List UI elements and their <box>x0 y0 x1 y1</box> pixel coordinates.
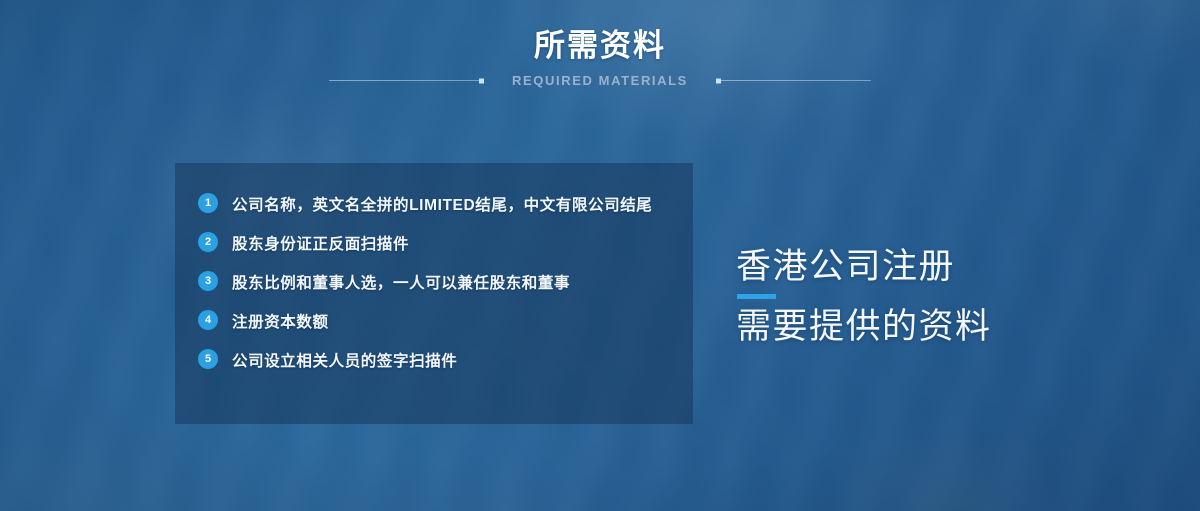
list-item-text: 公司设立相关人员的签字扫描件 <box>232 346 457 377</box>
list-item: 4 注册资本数额 <box>198 307 679 338</box>
page-subtitle: REQUIRED MATERIALS <box>512 74 688 87</box>
list-item: 1 公司名称，英文名全拼的LIMITED结尾，中文有限公司结尾 <box>198 190 679 221</box>
list-item: 5 公司设立相关人员的签字扫描件 <box>198 346 679 377</box>
list-number-badge: 1 <box>198 193 218 213</box>
list-item: 3 股东比例和董事人选，一人可以兼任股东和董事 <box>198 268 679 299</box>
list-number-badge: 5 <box>198 349 218 369</box>
list-number-badge: 4 <box>198 310 218 330</box>
list-number-badge: 2 <box>198 232 218 252</box>
headline-line-2: 需要提供的资料 <box>736 305 992 349</box>
list-item-text: 股东比例和董事人选，一人可以兼任股东和董事 <box>232 268 570 299</box>
required-materials-banner: 所需资料 REQUIRED MATERIALS 1 公司名称，英文名全拼的LIM… <box>0 0 1200 511</box>
right-decorative-rule <box>716 80 871 81</box>
banner-header: 所需资料 REQUIRED MATERIALS <box>0 0 1200 108</box>
headline-block: 香港公司注册 需要提供的资料 <box>736 245 992 349</box>
headline-accent-rule <box>737 294 776 299</box>
page-title: 所需资料 <box>534 30 666 61</box>
subtitle-row: REQUIRED MATERIALS <box>0 74 1200 87</box>
left-decorative-rule <box>329 80 484 81</box>
list-number-badge: 3 <box>198 271 218 291</box>
list-item: 2 股东身份证正反面扫描件 <box>198 229 679 260</box>
headline-line-1: 香港公司注册 <box>736 245 992 289</box>
materials-list: 1 公司名称，英文名全拼的LIMITED结尾，中文有限公司结尾 2 股东身份证正… <box>198 190 679 385</box>
left-rule-dot <box>479 78 484 83</box>
list-item-text: 公司名称，英文名全拼的LIMITED结尾，中文有限公司结尾 <box>232 190 652 221</box>
right-rule-dot <box>716 78 721 83</box>
list-item-text: 注册资本数额 <box>232 307 329 338</box>
materials-panel: 1 公司名称，英文名全拼的LIMITED结尾，中文有限公司结尾 2 股东身份证正… <box>175 163 693 424</box>
list-item-text: 股东身份证正反面扫描件 <box>232 229 409 260</box>
